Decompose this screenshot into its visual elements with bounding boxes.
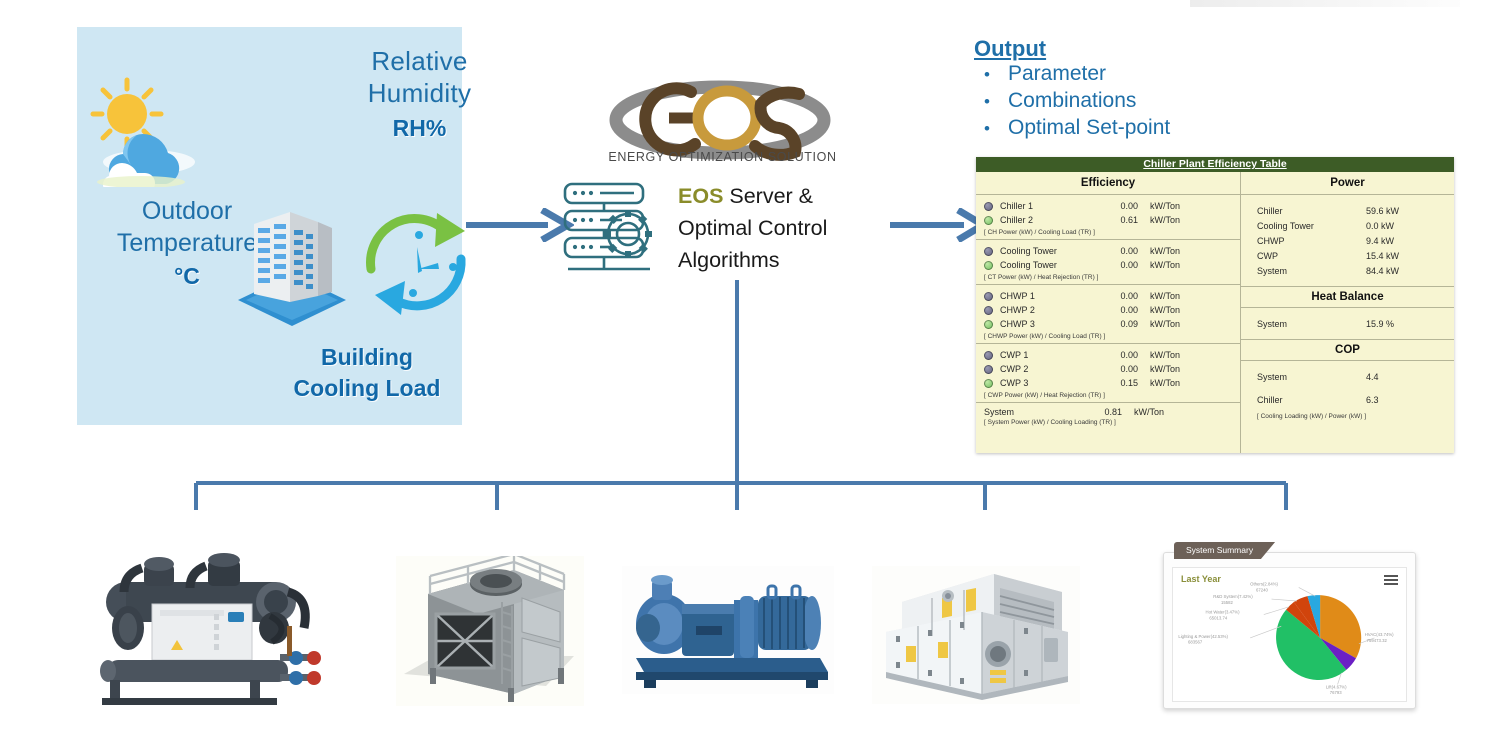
connector-tree (0, 280, 1499, 510)
efficiency-group-cooling-tower: Cooling Tower 0.00 kW/Ton Cooling Tower … (976, 240, 1240, 285)
table-row: CHWP 9.4 kW (1241, 233, 1454, 248)
table-row: Chiller 59.6 kW (1241, 203, 1454, 218)
arrow-input-to-eos (464, 208, 574, 242)
table-row: CWP 15.4 kW (1241, 248, 1454, 263)
eos-server-rest: Server & (723, 184, 813, 208)
ahu-photo (872, 566, 1080, 704)
output-item-optimal-setpoint: • Optimal Set-point (966, 116, 1170, 143)
bullet-icon: • (966, 92, 1008, 112)
pie-label-lighting-power: Lighting & Power(42.53%) (1178, 634, 1228, 639)
system-summary-dashboard[interactable]: System Summary Last Year (1163, 552, 1416, 709)
row-value: 15.4 kW (1366, 251, 1438, 261)
table-row: Chiller 1 0.00 kW/Ton (976, 199, 1240, 213)
row-name: CHWP (1257, 236, 1366, 246)
relative-humidity-line1: Relative (332, 45, 507, 77)
pie-value-hot-water: 65013.74 (1209, 615, 1227, 620)
row-unit: kW/Ton (1150, 260, 1200, 270)
row-name: Chiller 1 (1000, 201, 1108, 211)
output-list: • Parameter • Combinations • Optimal Set… (966, 62, 1170, 143)
eos-server-title: EOS Server & Optimal Control Algorithms (678, 180, 893, 276)
eos-server-line2: Optimal Control (678, 212, 893, 244)
output-item-label: Optimal Set-point (1008, 116, 1170, 140)
relative-humidity-unit: RH% (332, 115, 507, 142)
pie-value-lift: 76793 (1330, 690, 1342, 695)
output-item-label: Parameter (1008, 62, 1106, 86)
bullet-icon: • (966, 65, 1008, 85)
row-unit: kW/Ton (1150, 215, 1200, 225)
pie-value-hvac: 759473.32 (1367, 638, 1388, 643)
row-name: System (1257, 266, 1366, 276)
power-heading: Power (1241, 172, 1454, 195)
pie-label-lift: Lift(4.67%) (1326, 684, 1347, 689)
pie-label-hvac: HVAC(43.74%) (1365, 632, 1394, 637)
sun-cloud-icon (85, 72, 215, 187)
table-row: Cooling Tower 0.0 kW (1241, 218, 1454, 233)
table-row: Chiller 2 0.61 kW/Ton (976, 213, 1240, 227)
table-title: Chiller Plant Efficiency Table (976, 157, 1454, 172)
output-item-parameter: • Parameter (966, 62, 1170, 89)
eos-server-line1: EOS Server & (678, 180, 893, 212)
row-value: 9.4 kW (1366, 236, 1438, 246)
row-name: Cooling Tower (1000, 260, 1108, 270)
pie-value-lighting-power: 683567 (1188, 640, 1203, 645)
efficiency-group-chiller: Chiller 1 0.00 kW/Ton Chiller 2 0.61 kW/… (976, 195, 1240, 240)
output-title: Output (974, 36, 1046, 62)
row-value: 0.00 (1108, 246, 1150, 256)
table-row: System 84.4 kW (1241, 263, 1454, 278)
table-row: Cooling Tower 0.00 kW/Ton (976, 244, 1240, 258)
status-dot-on-icon (984, 261, 993, 270)
eos-logo-caption: ENERGY OPTIMIZATION SOLUTION (585, 150, 860, 164)
row-value: 0.0 kW (1366, 221, 1438, 231)
relative-humidity-label: Relative Humidity (332, 45, 507, 109)
server-gear-icon (560, 178, 658, 276)
row-unit: kW/Ton (1150, 201, 1200, 211)
relative-humidity-line2: Humidity (332, 77, 507, 109)
row-name: CWP (1257, 251, 1366, 261)
scan-artifact-band (1190, 0, 1460, 7)
dashboard-body: Last Year (1172, 567, 1407, 702)
pie-label-others: Others(2.84%) (1250, 581, 1278, 586)
bullet-icon: • (966, 119, 1008, 139)
row-name: Chiller 2 (1000, 215, 1108, 225)
pie-label-rd-system: R&D System(7.42%) (1213, 594, 1253, 599)
status-dot-off-icon (984, 202, 993, 211)
row-value: 0.00 (1108, 260, 1150, 270)
output-item-combinations: • Combinations (966, 89, 1170, 116)
pie-label-hot-water: Hot Water(3.47%) (1206, 610, 1241, 615)
dashboard-tab-label[interactable]: System Summary (1174, 542, 1275, 559)
table-row: Cooling Tower 0.00 kW/Ton (976, 258, 1240, 272)
row-name: Cooling Tower (1000, 246, 1108, 256)
row-value: 59.6 kW (1366, 206, 1438, 216)
pie-value-others: 67240 (1256, 587, 1268, 592)
eos-server-line3: Algorithms (678, 244, 893, 276)
row-name: Chiller (1257, 206, 1366, 216)
output-item-label: Combinations (1008, 89, 1136, 113)
pie-value-rd-system: 15582 (1221, 600, 1233, 605)
row-unit: kW/Ton (1150, 246, 1200, 256)
pump-photo (622, 566, 834, 694)
eos-accent-word: EOS (678, 184, 723, 208)
arrow-eos-to-output (888, 208, 988, 242)
status-dot-off-icon (984, 247, 993, 256)
row-value: 0.61 (1108, 215, 1150, 225)
chiller-photo (82, 548, 337, 710)
row-name: Cooling Tower (1257, 221, 1366, 231)
efficiency-heading: Efficiency (976, 172, 1240, 195)
row-value: 84.4 kW (1366, 266, 1438, 276)
cooling-tower-photo (396, 556, 584, 706)
status-dot-on-icon (984, 216, 993, 225)
row-value: 0.00 (1108, 201, 1150, 211)
energy-breakdown-pie-chart: Others(2.84%) 67240 R&D System(7.42%) 15… (1173, 568, 1406, 701)
group-note: [ CH Power (kW) / Cooling Load (TR) ] (976, 227, 1240, 237)
